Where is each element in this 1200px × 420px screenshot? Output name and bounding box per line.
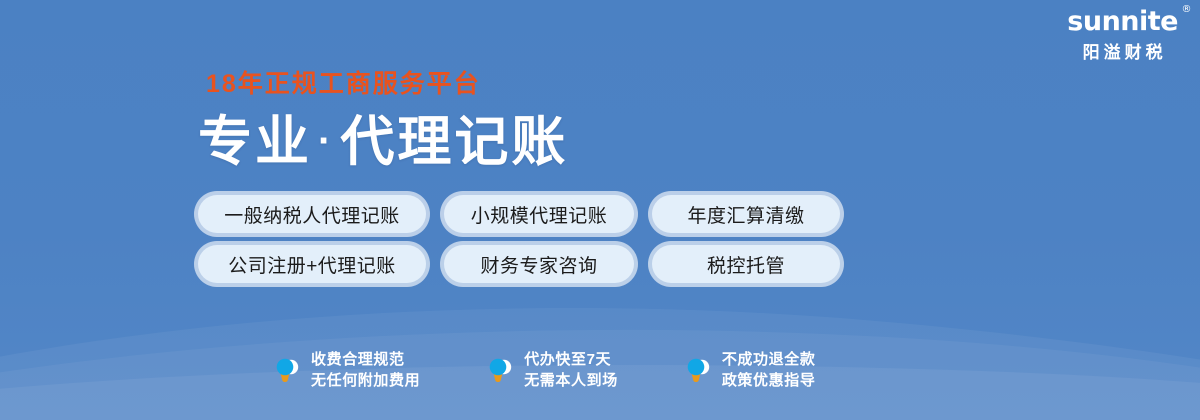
feature-item-speed: 代办快至7天 无需本人到场	[485, 349, 618, 393]
feature-line-1: 收费合理规范	[311, 349, 420, 371]
service-pill-company-registration-bookkeeping[interactable]: 公司注册+代理记账	[198, 245, 426, 283]
promo-banner: sunnite ® 阳溢财税 18年正规工商服务平台 专业·代理记账 一般纳税人…	[0, 0, 1200, 420]
logo-wordmark: sunnite ®	[1067, 8, 1178, 35]
service-pill-small-scale-bookkeeping[interactable]: 小规模代理记账	[444, 195, 634, 233]
service-pill-general-taxpayer-bookkeeping[interactable]: 一般纳税人代理记账	[198, 195, 426, 233]
feature-line-2: 政策优惠指导	[722, 370, 816, 392]
feature-line-2: 无需本人到场	[524, 370, 618, 392]
headline-left: 专业	[198, 112, 312, 172]
service-pill-tax-control-hosting[interactable]: 税控托管	[652, 245, 840, 283]
service-pill-finance-expert-consulting[interactable]: 财务专家咨询	[444, 245, 634, 283]
headline-right: 代理记账	[340, 112, 568, 172]
feature-strip: 收费合理规范 无任何附加费用 代办快至7天 无需本人到场	[272, 349, 815, 393]
feature-text: 代办快至7天 无需本人到场	[524, 349, 618, 393]
service-pill-annual-tax-settlement[interactable]: 年度汇算清缴	[652, 195, 840, 233]
hero-copy: 18年正规工商服务平台 专业·代理记账 一般纳税人代理记账 小规模代理记账 年度…	[198, 72, 958, 283]
logo-subtitle: 阳溢财税	[1067, 44, 1178, 61]
registered-trademark-icon: ®	[1182, 5, 1192, 15]
feature-item-guarantee: 不成功退全款 政策优惠指导	[683, 349, 816, 393]
page-title: 专业·代理记账	[198, 115, 958, 169]
brand-logo[interactable]: sunnite ® 阳溢财税	[1067, 8, 1178, 61]
service-pill-row: 公司注册+代理记账 财务专家咨询 税控托管	[198, 245, 958, 283]
feature-text: 收费合理规范 无任何附加费用	[311, 349, 420, 393]
feature-line-1: 不成功退全款	[722, 349, 816, 371]
moon-circle-icon	[272, 354, 300, 386]
service-pill-grid: 一般纳税人代理记账 小规模代理记账 年度汇算清缴 公司注册+代理记账 财务专家咨…	[198, 195, 958, 283]
hero-eyebrow: 18年正规工商服务平台	[206, 72, 958, 97]
feature-line-1: 代办快至7天	[524, 349, 618, 371]
feature-item-pricing: 收费合理规范 无任何附加费用	[272, 349, 420, 393]
logo-wordmark-text: sunnite	[1067, 6, 1178, 37]
feature-text: 不成功退全款 政策优惠指导	[722, 349, 816, 393]
moon-circle-icon	[485, 354, 513, 386]
headline-separator: ·	[312, 119, 340, 163]
service-pill-row: 一般纳税人代理记账 小规模代理记账 年度汇算清缴	[198, 195, 958, 233]
feature-line-2: 无任何附加费用	[311, 370, 420, 392]
moon-circle-icon	[683, 354, 711, 386]
